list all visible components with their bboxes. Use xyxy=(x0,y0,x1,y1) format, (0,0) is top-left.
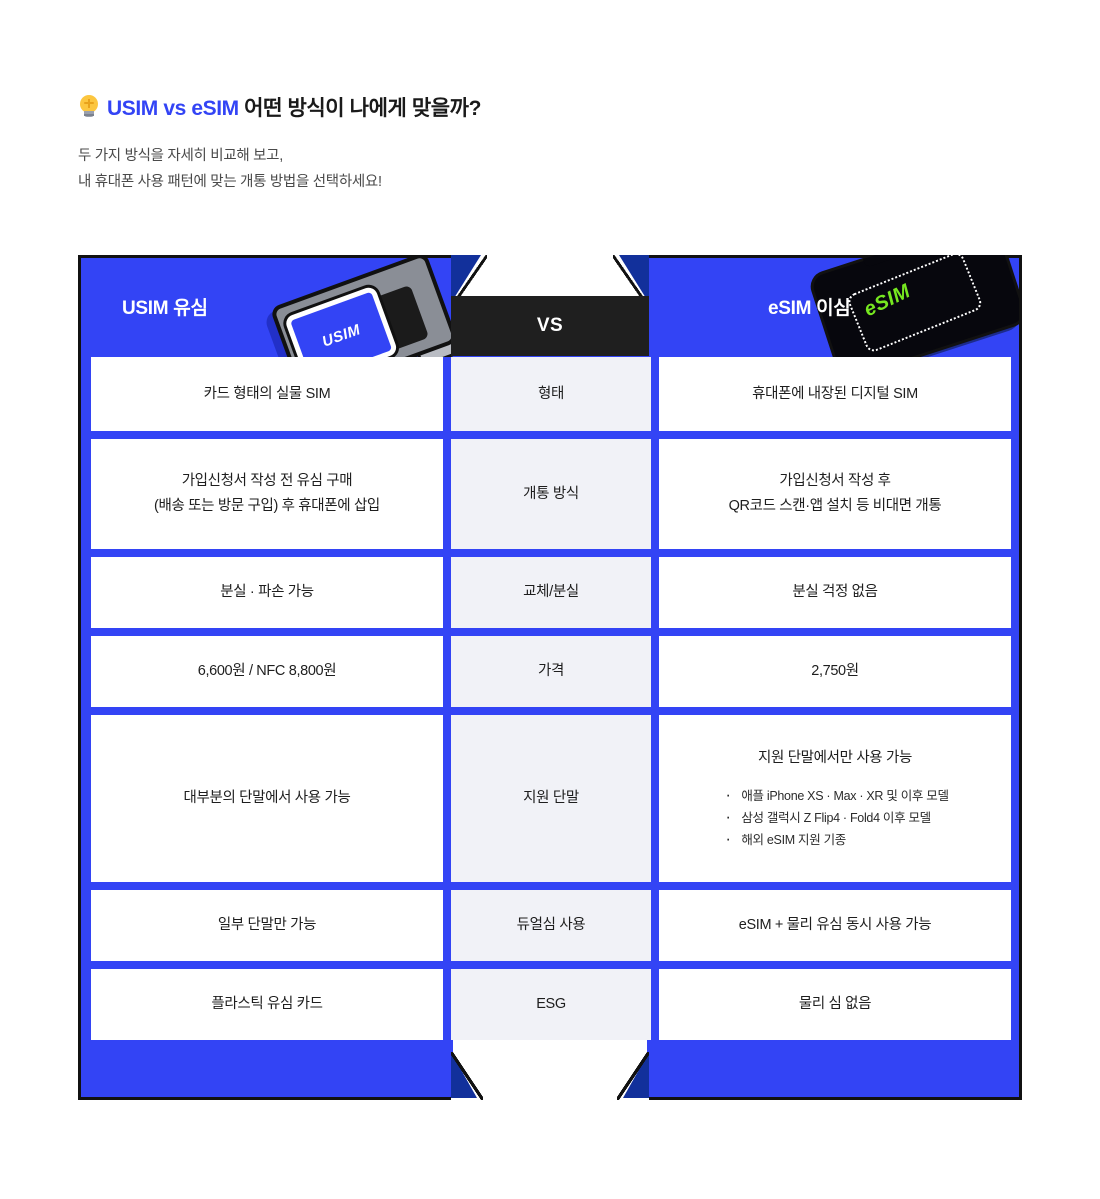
esim-cell-text: 가입신청서 작성 후QR코드 스캔·앱 설치 등 비대면 개통 xyxy=(729,469,942,519)
table-row: 6,600원 / NFC 8,800원가격2,750원 xyxy=(78,636,1022,707)
feature-label-text: 지원 단말 xyxy=(523,786,579,811)
table-row: 가입신청서 작성 전 유심 구매(배송 또는 방문 구입) 후 휴대폰에 삽입개… xyxy=(78,439,1022,549)
usim-cell-text: 분실 · 파손 가능 xyxy=(220,580,313,605)
feature-label-cell: 교체/분실 xyxy=(451,557,651,628)
esim-cell-text: 분실 걱정 없음 xyxy=(792,580,877,605)
bottom-notch-right-edge xyxy=(617,1052,649,1100)
page-subtitle-line-1: 두 가지 방식을 자세히 비교해 보고, xyxy=(78,143,978,169)
feature-label-text: 듀얼심 사용 xyxy=(517,913,586,938)
feature-label-cell: 듀얼심 사용 xyxy=(451,890,651,961)
comparison-table: USIM 유심 USIM eSIM 이심 eSIM VS 카드 형태의 실물 S… xyxy=(78,255,1022,1100)
esim-cell-text: 지원 단말에서만 사용 가능 xyxy=(758,746,912,771)
feature-label-text: 형태 xyxy=(538,382,564,407)
usim-cell-text: 가입신청서 작성 전 유심 구매(배송 또는 방문 구입) 후 휴대폰에 삽입 xyxy=(154,469,380,519)
lightbulb-icon xyxy=(78,95,100,119)
page-title-accent: USIM vs eSIM xyxy=(107,97,239,120)
esim-column-header: eSIM 이심 eSIM xyxy=(647,255,1019,357)
usim-column-title: USIM 유심 xyxy=(122,293,208,320)
table-row: 분실 · 파손 가능교체/분실분실 걱정 없음 xyxy=(78,557,1022,628)
feature-label-cell: 형태 xyxy=(451,357,651,431)
usim-cell: 플라스틱 유심 카드 xyxy=(91,969,443,1040)
table-row: 카드 형태의 실물 SIM형태휴대폰에 내장된 디지털 SIM xyxy=(78,357,1022,431)
esim-cell: 지원 단말에서만 사용 가능애플 iPhone XS · Max · XR 및 … xyxy=(659,715,1011,882)
usim-card-label: USIM xyxy=(320,321,363,350)
supported-device-list: 애플 iPhone XS · Max · XR 및 이후 모델삼성 갤럭시 Z … xyxy=(721,785,948,851)
usim-card-icon: USIM xyxy=(267,261,453,357)
feature-label-text: 교체/분실 xyxy=(523,580,579,605)
esim-device-support: 지원 단말에서만 사용 가능애플 iPhone XS · Max · XR 및 … xyxy=(659,746,1011,851)
esim-cell-text: 2,750원 xyxy=(811,659,859,684)
list-item: 삼성 갤럭시 Z Flip4 · Fold4 이후 모델 xyxy=(721,807,948,829)
esim-column-title: eSIM 이심 xyxy=(768,293,851,320)
feature-label-text: ESG xyxy=(536,992,566,1017)
list-item: 애플 iPhone XS · Max · XR 및 이후 모델 xyxy=(721,785,948,807)
usim-cell: 대부분의 단말에서 사용 가능 xyxy=(91,715,443,882)
usim-column-header: USIM 유심 USIM xyxy=(81,255,453,357)
esim-cell-text: 휴대폰에 내장된 디지털 SIM xyxy=(752,382,918,407)
esim-cell: eSIM + 물리 유심 동시 사용 가능 xyxy=(659,890,1011,961)
feature-label-cell: 가격 xyxy=(451,636,651,707)
feature-label-text: 개통 방식 xyxy=(523,482,579,507)
esim-cell: 2,750원 xyxy=(659,636,1011,707)
esim-cell: 가입신청서 작성 후QR코드 스캔·앱 설치 등 비대면 개통 xyxy=(659,439,1011,549)
page-subtitle: 두 가지 방식을 자세히 비교해 보고, 내 휴대폰 사용 패턴에 맞는 개통 … xyxy=(78,143,978,195)
feature-label-cell: 개통 방식 xyxy=(451,439,651,549)
page-title-rest: 어떤 방식이 나에게 맞을까? xyxy=(239,97,481,120)
esim-cell-text: 물리 심 없음 xyxy=(799,992,871,1017)
usim-cell-text: 플라스틱 유심 카드 xyxy=(211,992,322,1017)
esim-cell: 분실 걱정 없음 xyxy=(659,557,1011,628)
table-row: 일부 단말만 가능듀얼심 사용eSIM + 물리 유심 동시 사용 가능 xyxy=(78,890,1022,961)
feature-label-cell: 지원 단말 xyxy=(451,715,651,882)
usim-cell-text: 대부분의 단말에서 사용 가능 xyxy=(184,786,351,811)
bottom-notch xyxy=(451,1052,649,1100)
table-row: 대부분의 단말에서 사용 가능지원 단말지원 단말에서만 사용 가능애플 iPh… xyxy=(78,715,1022,882)
esim-cell: 휴대폰에 내장된 디지털 SIM xyxy=(659,357,1011,431)
usim-cell-text: 카드 형태의 실물 SIM xyxy=(204,382,331,407)
vs-badge-label: VS xyxy=(537,315,563,337)
feature-label-text: 가격 xyxy=(538,659,564,684)
usim-cell-text: 일부 단말만 가능 xyxy=(218,913,316,938)
usim-cell: 일부 단말만 가능 xyxy=(91,890,443,961)
usim-cell: 카드 형태의 실물 SIM xyxy=(91,357,443,431)
usim-cell: 6,600원 / NFC 8,800원 xyxy=(91,636,443,707)
feature-label-cell: ESG xyxy=(451,969,651,1040)
usim-cell: 분실 · 파손 가능 xyxy=(91,557,443,628)
esim-cell-text: eSIM + 물리 유심 동시 사용 가능 xyxy=(739,913,932,938)
usim-cell-text: 6,600원 / NFC 8,800원 xyxy=(198,659,337,684)
esim-cell: 물리 심 없음 xyxy=(659,969,1011,1040)
list-item: 해외 eSIM 지원 기종 xyxy=(721,829,948,851)
page-subtitle-line-2: 내 휴대폰 사용 패턴에 맞는 개통 방법을 선택하세요! xyxy=(78,169,978,195)
bottom-notch-left-edge xyxy=(451,1052,483,1100)
table-row: 플라스틱 유심 카드ESG물리 심 없음 xyxy=(78,969,1022,1040)
vs-badge: VS xyxy=(451,296,649,356)
page-header: USIM vs eSIM 어떤 방식이 나에게 맞을까? 두 가지 방식을 자세… xyxy=(78,92,978,195)
page-title: USIM vs eSIM 어떤 방식이 나에게 맞을까? xyxy=(78,92,978,122)
page-title-text: USIM vs eSIM 어떤 방식이 나에게 맞을까? xyxy=(107,92,481,122)
table-body: 카드 형태의 실물 SIM형태휴대폰에 내장된 디지털 SIM가입신청서 작성 … xyxy=(78,357,1022,1048)
usim-cell: 가입신청서 작성 전 유심 구매(배송 또는 방문 구입) 후 휴대폰에 삽입 xyxy=(91,439,443,549)
